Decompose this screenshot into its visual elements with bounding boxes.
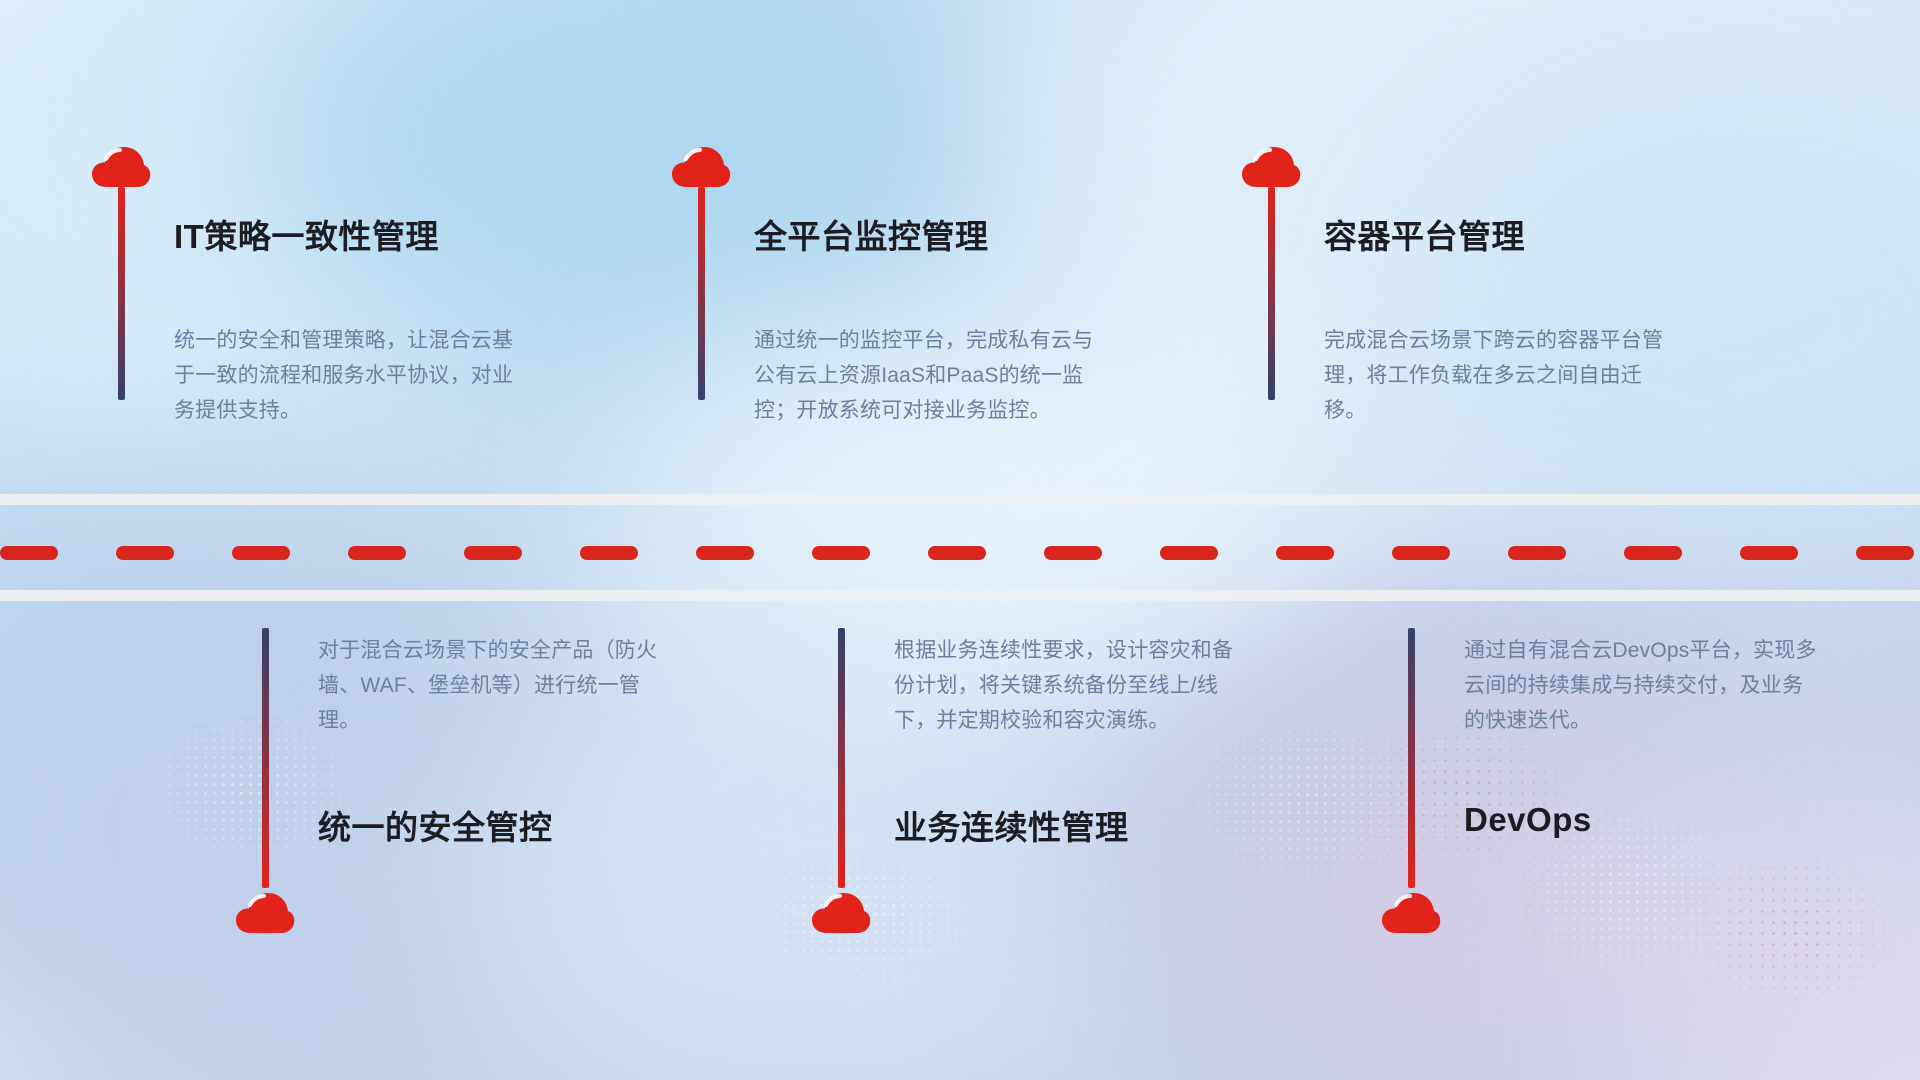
cloud-icon <box>90 145 152 189</box>
card-title: IT策略一致性管理 <box>174 210 439 258</box>
card-title: 全平台监控管理 <box>754 210 989 258</box>
cloud-icon <box>810 891 872 935</box>
card-body: 对于混合云场景下的安全产品（防火墙、WAF、堡垒机等）进行统一管理。 <box>318 633 678 738</box>
card-title: DevOps <box>1464 801 1592 839</box>
road-band-lower <box>0 590 1920 601</box>
cloud-icon <box>1240 145 1302 189</box>
cloud-icon <box>234 891 296 935</box>
road-dash-segment <box>1392 546 1450 560</box>
road-dash-segment <box>1624 546 1682 560</box>
road-dash-segment <box>696 546 754 560</box>
card-body: 统一的安全和管理策略，让混合云基于一致的流程和服务水平协议，对业务提供支持。 <box>174 323 534 428</box>
road-dash-segment <box>1160 546 1218 560</box>
road-dash-segment <box>928 546 986 560</box>
road-dash-segment <box>1856 546 1914 560</box>
connector-stem <box>698 187 705 400</box>
connector-stem <box>1268 187 1275 400</box>
card-title: 业务连续性管理 <box>894 801 1129 849</box>
card-title: 统一的安全管控 <box>318 801 553 849</box>
cloud-icon <box>670 145 732 189</box>
cloud-icon <box>1380 891 1442 935</box>
road-dashed-line <box>0 546 1920 560</box>
road-dash-segment <box>1508 546 1566 560</box>
road-dash-segment <box>348 546 406 560</box>
connector-stem <box>1408 628 1415 888</box>
road-dash-segment <box>232 546 290 560</box>
road-dash-segment <box>1276 546 1334 560</box>
connector-stem <box>262 628 269 888</box>
card-body: 通过自有混合云DevOps平台，实现多云间的持续集成与持续交付，及业务的快速迭代… <box>1464 633 1824 738</box>
road-dash-segment <box>1044 546 1102 560</box>
connector-stem <box>118 187 125 400</box>
road-band-upper <box>0 494 1920 505</box>
card-title: 容器平台管理 <box>1324 210 1525 258</box>
road-dash-segment <box>464 546 522 560</box>
connector-stem <box>838 628 845 888</box>
road-dash-segment <box>580 546 638 560</box>
road-dash-segment <box>116 546 174 560</box>
road-dash-segment <box>0 546 58 560</box>
card-body: 通过统一的监控平台，完成私有云与公有云上资源IaaS和PaaS的统一监控；开放系… <box>754 323 1114 428</box>
infographic-canvas: IT策略一致性管理 统一的安全和管理策略，让混合云基于一致的流程和服务水平协议，… <box>0 0 1920 1080</box>
road-dash-segment <box>1740 546 1798 560</box>
card-body: 完成混合云场景下跨云的容器平台管理，将工作负载在多云之间自由迁移。 <box>1324 323 1684 428</box>
road-dash-segment <box>812 546 870 560</box>
card-body: 根据业务连续性要求，设计容灾和备份计划，将关键系统备份至线上/线下，并定期校验和… <box>894 633 1254 738</box>
